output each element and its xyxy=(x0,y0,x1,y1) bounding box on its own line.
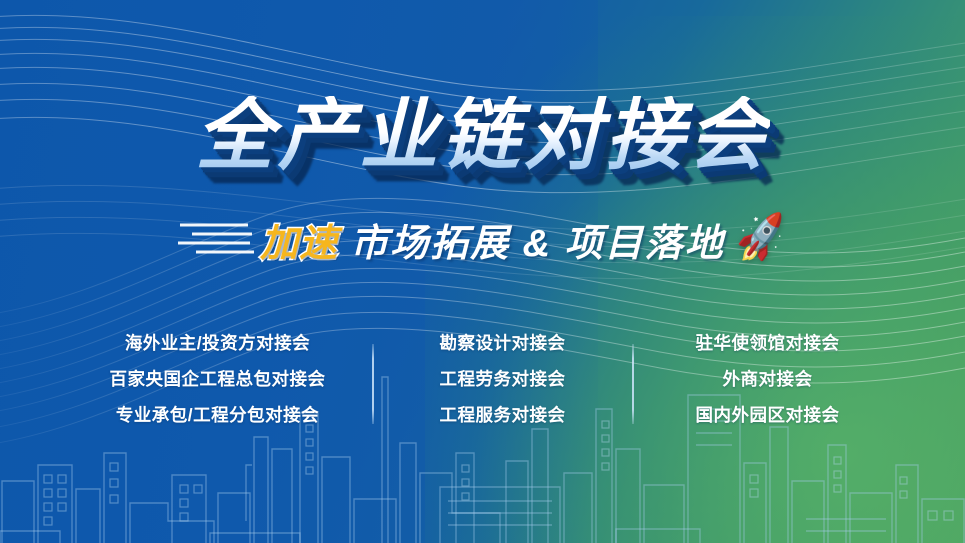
banner-subtitle-container: 加速 市场拓展 & 项目落地 🚀 xyxy=(0,212,965,267)
session-columns: 海外业主/投资方对接会 百家央国企工程总包对接会 专业承包/工程分包对接会 勘察… xyxy=(0,330,965,427)
subtitle-accent: 加速 xyxy=(260,212,338,267)
list-item[interactable]: 工程劳务对接会 xyxy=(440,366,566,391)
list-item[interactable]: 驻华使领馆对接会 xyxy=(696,330,840,355)
list-item[interactable]: 国内外园区对接会 xyxy=(696,402,840,427)
list-item[interactable]: 外商对接会 xyxy=(723,366,813,391)
list-item[interactable]: 工程服务对接会 xyxy=(440,402,566,427)
promotional-banner: 全产业链对接会 加速 市场拓展 & 项目落地 🚀 海外业主/投资方对接会 百家央… xyxy=(0,0,965,543)
banner-title-container: 全产业链对接会 xyxy=(0,96,965,174)
subtitle-text: 市场拓展 & 项目落地 xyxy=(350,212,725,267)
rocket-icon: 🚀 xyxy=(732,213,790,262)
session-column-1: 海外业主/投资方对接会 百家央国企工程总包对接会 专业承包/工程分包对接会 xyxy=(64,330,372,427)
session-column-2: 勘察设计对接会 工程劳务对接会 工程服务对接会 xyxy=(374,330,632,427)
page-title: 全产业链对接会 xyxy=(195,96,769,174)
list-item[interactable]: 勘察设计对接会 xyxy=(440,330,566,355)
list-item[interactable]: 海外业主/投资方对接会 xyxy=(125,330,310,355)
list-item[interactable]: 专业承包/工程分包对接会 xyxy=(116,402,319,427)
speed-lines-icon xyxy=(178,217,256,263)
list-item[interactable]: 百家央国企工程总包对接会 xyxy=(110,366,326,391)
session-column-3: 驻华使领馆对接会 外商对接会 国内外园区对接会 xyxy=(634,330,902,427)
